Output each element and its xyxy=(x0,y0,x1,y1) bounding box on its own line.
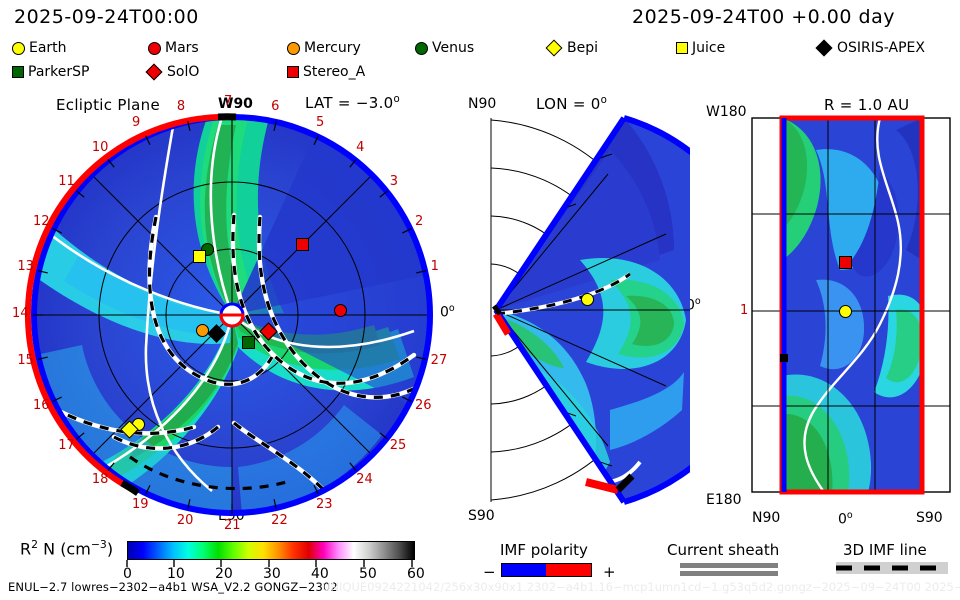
legend-item-osiris-apex: OSIRIS-APEX xyxy=(818,40,925,56)
legend-item-stereo-a: Stereo_A xyxy=(287,64,365,80)
imf-plus-sign: + xyxy=(603,563,616,581)
ecliptic-hour-label-1: 1 xyxy=(431,259,439,274)
plot-body-marker-mars xyxy=(334,304,347,317)
legend-item-earth: Earth xyxy=(12,40,67,56)
shell-zero-value: 0 xyxy=(838,512,847,528)
circle-marker-icon xyxy=(148,42,161,55)
ecliptic-hour-label-16: 16 xyxy=(33,398,50,413)
legend-item-label: Venus xyxy=(432,40,474,56)
colorbar-gradient xyxy=(127,541,415,560)
footer-model-string: ENUL−2.7 lowres−2302−a4b1 WSA_V2.2 GONGZ… xyxy=(8,580,338,594)
diamond-marker-icon xyxy=(146,64,163,81)
ecliptic-hour-label-4: 4 xyxy=(356,140,364,155)
ecliptic-hour-label-27: 27 xyxy=(431,353,448,368)
colorbar-r: R xyxy=(20,539,31,558)
meridional-zero-sup: o xyxy=(695,296,701,307)
ecliptic-hour-label-8: 8 xyxy=(177,99,185,114)
legend-item-label: Mars xyxy=(165,40,199,56)
meridional-plot xyxy=(460,110,690,510)
legend-item-juice: Juice xyxy=(676,40,725,56)
ecliptic-hour-label-21: 21 xyxy=(224,518,241,533)
plot-body-marker-earth xyxy=(839,305,852,318)
plot-body-marker-stereo-a xyxy=(839,256,852,269)
legend-item-solo: SolO xyxy=(148,64,199,80)
shell-xtick-n90: N90 xyxy=(752,510,780,526)
legend-item-label: ParkerSP xyxy=(28,64,89,80)
ecliptic-plot xyxy=(22,105,442,525)
square-marker-icon xyxy=(12,66,24,78)
colorbar-units: N (cm xyxy=(38,539,91,558)
ecliptic-hour-label-26: 26 xyxy=(415,398,432,413)
shell-xtick-s90: S90 xyxy=(916,510,943,526)
imf-minus-sign: − xyxy=(483,563,496,581)
ecliptic-hour-label-10: 10 xyxy=(92,140,109,155)
ecliptic-hour-label-15: 15 xyxy=(17,353,34,368)
square-marker-icon xyxy=(287,66,299,78)
legend-item-label: OSIRIS-APEX xyxy=(837,40,925,56)
ecliptic-hour-label-11: 11 xyxy=(58,174,75,189)
ecliptic-hour-label-12: 12 xyxy=(33,214,50,229)
diamond-marker-icon xyxy=(816,40,833,57)
legend-item-bepi: Bepi xyxy=(548,40,598,56)
colorbar-label: R2 N (cm−3) xyxy=(20,538,113,558)
ecliptic-hour-label-25: 25 xyxy=(390,438,407,453)
current-sheath-title: Current sheath xyxy=(667,541,779,559)
ecliptic-hour-label-13: 13 xyxy=(17,259,34,274)
legend-item-label: Stereo_A xyxy=(303,64,365,80)
imf-3d-line-title: 3D IMF line xyxy=(843,541,927,559)
ecliptic-hour-label-19: 19 xyxy=(132,497,149,512)
ecliptic-hour-label-5: 5 xyxy=(316,115,324,130)
current-sheath-swatch-bottom xyxy=(680,571,778,576)
meridional-lon-sup: o xyxy=(601,95,608,106)
legend-item-mercury: Mercury xyxy=(287,40,361,56)
imf-polarity-swatch-negative xyxy=(501,563,546,577)
shell-zero-sup: o xyxy=(847,510,853,521)
circle-marker-icon xyxy=(287,42,300,55)
ecliptic-hour-label-24: 24 xyxy=(356,472,373,487)
plot-body-marker-stereo-a xyxy=(296,238,309,251)
ecliptic-hour-label-23: 23 xyxy=(316,497,333,512)
shell-xtick-zero: 0o xyxy=(838,510,853,528)
current-sheath-swatch-top xyxy=(680,563,778,568)
legend-item-parkersp: ParkerSP xyxy=(12,64,89,80)
ecliptic-right-zero-label: 0o xyxy=(440,303,455,321)
colorbar-r-exp: 2 xyxy=(31,538,38,551)
ecliptic-hour-label-7: 7 xyxy=(224,94,232,109)
legend-item-label: SolO xyxy=(167,64,199,80)
header-right-timestamp: 2025-09-24T00 +0.00 day xyxy=(632,6,895,28)
plot-body-marker-parkersp xyxy=(242,336,255,349)
legend-item-label: Mercury xyxy=(304,40,361,56)
legend-item-label: Bepi xyxy=(567,40,598,56)
ecliptic-hour-label-9: 9 xyxy=(132,115,140,130)
ecliptic-hour-label-2: 2 xyxy=(415,214,423,229)
legend-item-mars: Mars xyxy=(148,40,199,56)
lat-degree-sup: o xyxy=(394,94,401,105)
imf-polarity-title: IMF polarity xyxy=(500,541,588,559)
square-marker-icon xyxy=(676,42,688,54)
header-left-timestamp: 2025-09-24T00:00 xyxy=(14,6,199,28)
legend-item-label: Juice xyxy=(692,40,725,56)
colorbar-units-close: ) xyxy=(107,539,113,558)
plot-body-marker-mercury xyxy=(196,324,209,337)
ecliptic-hour-label-14: 14 xyxy=(12,306,29,321)
legend-item-venus: Venus xyxy=(415,40,474,56)
imf-polarity-swatch-positive xyxy=(546,563,592,577)
colorbar-units-exp: −3 xyxy=(91,538,107,551)
circle-marker-icon xyxy=(415,42,428,55)
imf-3d-line-swatch xyxy=(836,562,948,574)
circle-marker-icon xyxy=(12,42,25,55)
legend-item-label: Earth xyxy=(29,40,67,56)
meridional-bottom-label: S90 xyxy=(468,508,495,524)
plot-body-marker-earth xyxy=(581,293,594,306)
ecliptic-hour-label-3: 3 xyxy=(390,174,398,189)
diamond-marker-icon xyxy=(546,40,563,57)
footer-watermark: UNIQUE0924221042/256x30x90x1.2302−a4b1.1… xyxy=(322,580,960,594)
ecliptic-zero-sup: o xyxy=(449,303,455,314)
ecliptic-hour-label-20: 20 xyxy=(177,513,194,528)
ecliptic-hour-label-22: 22 xyxy=(271,513,288,528)
plot-body-marker-juice xyxy=(193,250,206,263)
ecliptic-hour-label-18: 18 xyxy=(92,472,109,487)
ecliptic-hour-label-6: 6 xyxy=(271,99,279,114)
ecliptic-hour-label-17: 17 xyxy=(58,438,75,453)
